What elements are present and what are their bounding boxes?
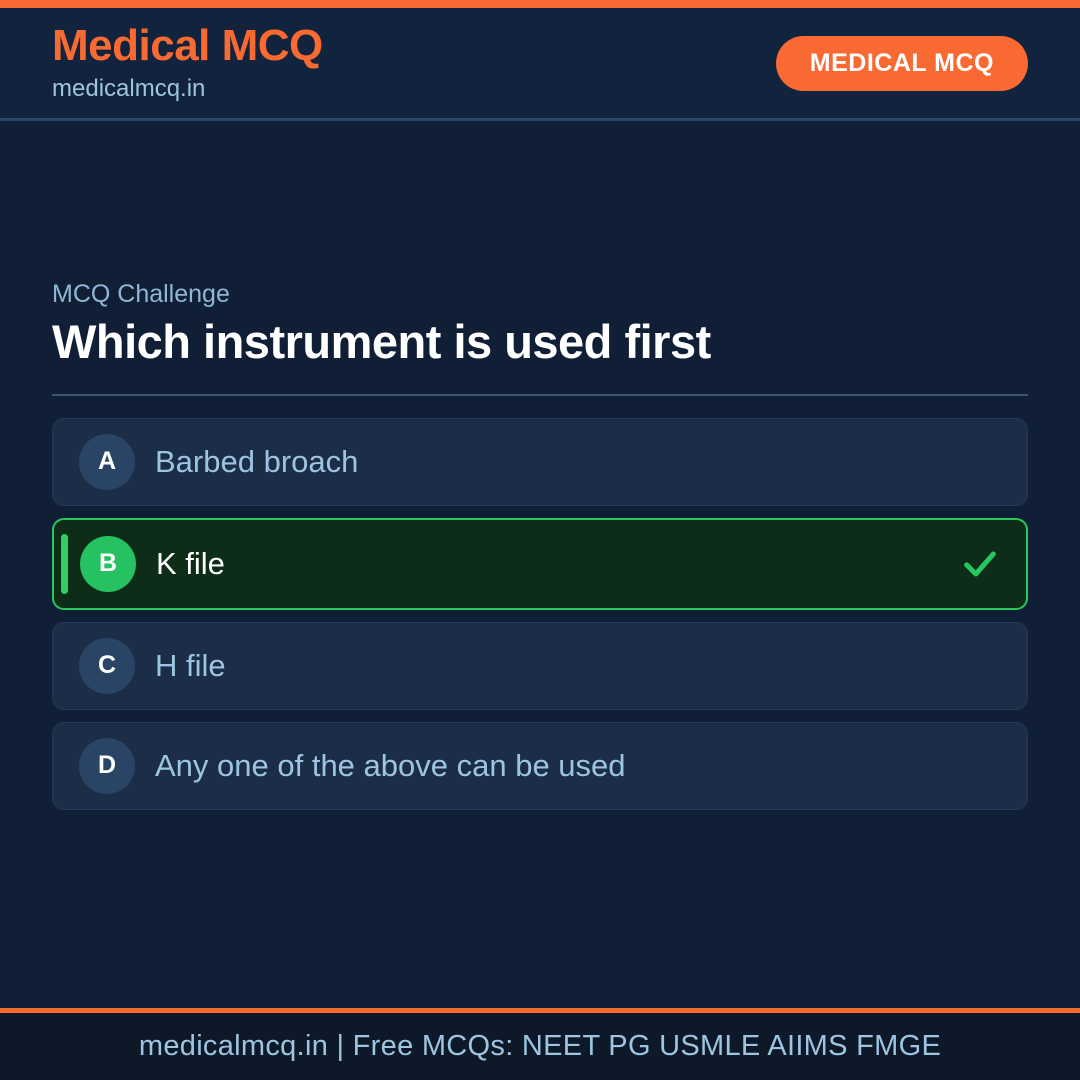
main-content: MCQ Challenge Which instrument is used f… xyxy=(0,121,1080,1008)
option-letter-d: D xyxy=(79,738,135,794)
check-icon xyxy=(960,544,1000,584)
option-text-d: Any one of the above can be used xyxy=(155,747,1001,784)
footer-text: medicalmcq.in | Free MCQs: NEET PG USMLE… xyxy=(139,1030,941,1063)
option-text-c: H file xyxy=(155,647,1001,684)
header-badge[interactable]: MEDICAL MCQ xyxy=(776,36,1028,91)
footer: medicalmcq.in | Free MCQs: NEET PG USMLE… xyxy=(0,1008,1080,1080)
option-letter-b: B xyxy=(80,536,136,592)
brand-title: Medical MCQ xyxy=(52,22,323,70)
option-row-c[interactable]: C H file xyxy=(52,622,1028,710)
question-text: Which instrument is used first xyxy=(52,315,1028,369)
correct-accent-bar xyxy=(61,534,68,594)
kicker-label: MCQ Challenge xyxy=(52,279,1028,309)
option-text-b: K file xyxy=(156,545,946,582)
question-divider xyxy=(52,394,1028,396)
mcq-card: Medical MCQ medicalmcq.in MEDICAL MCQ MC… xyxy=(0,0,1080,1080)
option-text-a: Barbed broach xyxy=(155,443,1001,480)
brand-block: Medical MCQ medicalmcq.in xyxy=(52,22,323,104)
top-accent-bar xyxy=(0,0,1080,8)
option-letter-a: A xyxy=(79,434,135,490)
question-block: MCQ Challenge Which instrument is used f… xyxy=(52,279,1028,809)
option-row-a[interactable]: A Barbed broach xyxy=(52,418,1028,506)
option-row-b[interactable]: B K file xyxy=(52,518,1028,610)
options-list: A Barbed broach B K file C H file xyxy=(52,418,1028,810)
header: Medical MCQ medicalmcq.in MEDICAL MCQ xyxy=(0,8,1080,121)
brand-url: medicalmcq.in xyxy=(52,73,323,104)
option-letter-c: C xyxy=(79,638,135,694)
option-row-d[interactable]: D Any one of the above can be used xyxy=(52,722,1028,810)
